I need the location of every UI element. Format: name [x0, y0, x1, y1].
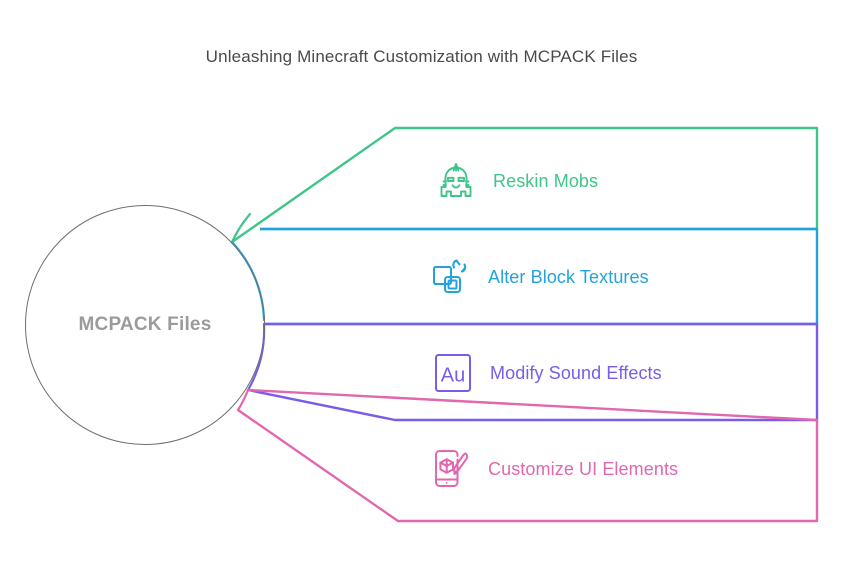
connector-line-reskin-mobs: [232, 214, 250, 242]
center-node-mcpack-files[interactable]: MCPACK Files: [25, 205, 265, 445]
branch-reskin-mobs[interactable]: Reskin Mobs: [433, 158, 598, 204]
branch-customize-ui-elements[interactable]: Customize UI Elements: [428, 446, 678, 492]
center-node-label: MCPACK Files: [79, 314, 212, 336]
branch-label-customize-ui-elements: Customize UI Elements: [488, 459, 678, 480]
phone-cube-brush-icon: [428, 446, 474, 492]
branch-label-alter-block-textures: Alter Block Textures: [488, 267, 649, 288]
swap-blocks-icon: [428, 254, 474, 300]
branch-alter-block-textures[interactable]: Alter Block Textures: [428, 254, 649, 300]
branch-modify-sound-effects[interactable]: Au Modify Sound Effects: [430, 350, 662, 396]
audition-icon-text: Au: [441, 365, 465, 387]
branch-label-reskin-mobs: Reskin Mobs: [493, 171, 598, 192]
mob-head-icon: [433, 158, 479, 204]
branch-label-modify-sound-effects: Modify Sound Effects: [490, 363, 662, 384]
audition-au-icon: Au: [430, 350, 476, 396]
mindmap-diagram: Unleashing Minecraft Customization with …: [0, 0, 843, 566]
